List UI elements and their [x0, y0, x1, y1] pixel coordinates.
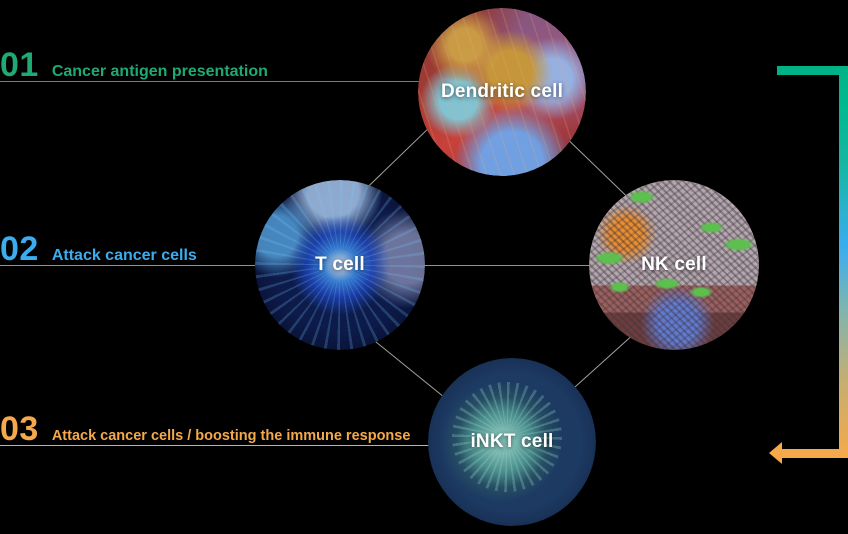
- step-rule-02-mid: [418, 265, 596, 266]
- node-nk-cell[interactable]: NK cell: [589, 180, 759, 350]
- diagram-canvas: 01 Cancer antigen presentation 02 Attack…: [0, 0, 848, 534]
- node-label-tcell: T cell: [255, 254, 425, 276]
- node-dendritic-cell[interactable]: Dendritic cell: [418, 8, 586, 176]
- bracket-bottom-segment: [782, 449, 848, 458]
- step-number-01: 01: [0, 48, 39, 82]
- step-rule-01: [0, 81, 424, 82]
- step-label-01: Cancer antigen presentation: [52, 64, 268, 80]
- node-inkt-cell[interactable]: iNKT cell: [428, 358, 596, 526]
- node-label-dendritic: Dendritic cell: [418, 81, 586, 103]
- step-rule-03: [0, 445, 440, 446]
- step-number-02: 02: [0, 232, 39, 266]
- bracket-vertical-gradient: [839, 66, 848, 458]
- bracket-top-segment: [777, 66, 848, 75]
- step-row-03: 03 Attack cancer cells / boosting the im…: [0, 412, 410, 446]
- node-label-inktcell: iNKT cell: [428, 431, 596, 453]
- step-row-01: 01 Cancer antigen presentation: [0, 48, 268, 82]
- step-label-02: Attack cancer cells: [52, 248, 197, 264]
- step-row-02: 02 Attack cancer cells: [0, 232, 197, 266]
- node-t-cell[interactable]: T cell: [255, 180, 425, 350]
- node-label-nkcell: NK cell: [589, 254, 759, 276]
- step-rule-02-left: [0, 265, 268, 266]
- arrow-left-icon: [769, 442, 782, 464]
- cycle-bracket: [766, 66, 848, 458]
- step-number-03: 03: [0, 412, 39, 446]
- step-label-03: Attack cancer cells / boosting the immun…: [52, 429, 411, 444]
